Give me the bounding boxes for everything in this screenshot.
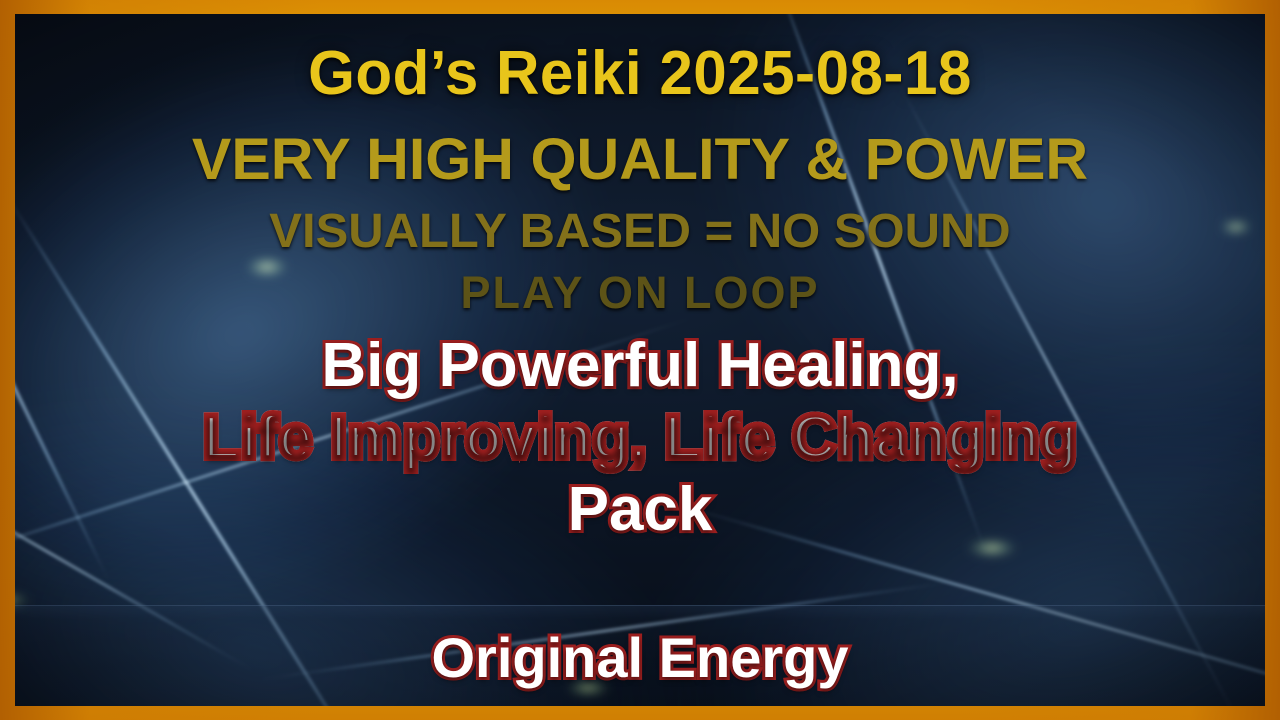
headline-block: Big Powerful Healing, Life Improving, Li… bbox=[15, 330, 1265, 546]
page-title: God’s Reiki 2025-08-18 bbox=[34, 38, 1247, 109]
footer-original-energy: Original Energy bbox=[15, 626, 1265, 690]
headline-line-1: Big Powerful Healing, bbox=[15, 330, 1265, 402]
thumbnail-card: God’s Reiki 2025-08-18 VERY HIGH QUALITY… bbox=[0, 0, 1280, 720]
headline-line-3: Pack bbox=[15, 474, 1265, 546]
subtitle-play-on-loop: PLAY ON LOOP bbox=[15, 267, 1265, 319]
headline-line-2: Life Improving, Life Changing bbox=[15, 402, 1265, 474]
subtitle-visually-based-no-sound: VISUALLY BASED = NO SOUND bbox=[15, 204, 1265, 259]
text-layer: God’s Reiki 2025-08-18 VERY HIGH QUALITY… bbox=[15, 14, 1265, 706]
subtitle-quality-power: VERY HIGH QUALITY & POWER bbox=[15, 126, 1265, 193]
content-stage: God’s Reiki 2025-08-18 VERY HIGH QUALITY… bbox=[15, 14, 1265, 706]
